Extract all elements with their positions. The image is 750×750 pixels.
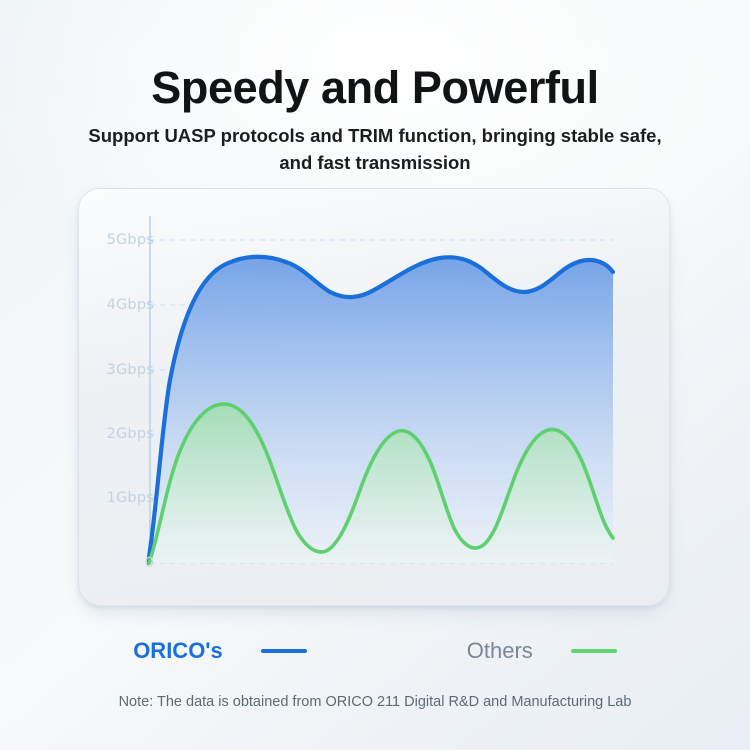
chart-note: Note: The data is obtained from ORICO 21…	[0, 694, 750, 710]
chart-canvas	[78, 188, 670, 606]
legend-swatch-others-icon	[571, 649, 617, 653]
legend-label-others: Others	[467, 638, 533, 664]
legend-swatch-orico-icon	[261, 649, 307, 653]
page-subtitle: Support UASP protocols and TRIM function…	[75, 122, 675, 178]
legend-label-orico: ORICO's	[133, 638, 223, 664]
legend-item-others: Others	[467, 638, 617, 664]
promo-page: Speedy and Powerful Support UASP protoco…	[0, 0, 750, 750]
legend-item-orico: ORICO's	[133, 638, 307, 664]
performance-chart: 5Gbps 4Gbps 3Gbps 2Gbps 1Gbps 0	[78, 188, 670, 606]
page-title: Speedy and Powerful	[0, 62, 750, 114]
chart-legend: ORICO's Others	[0, 638, 750, 664]
